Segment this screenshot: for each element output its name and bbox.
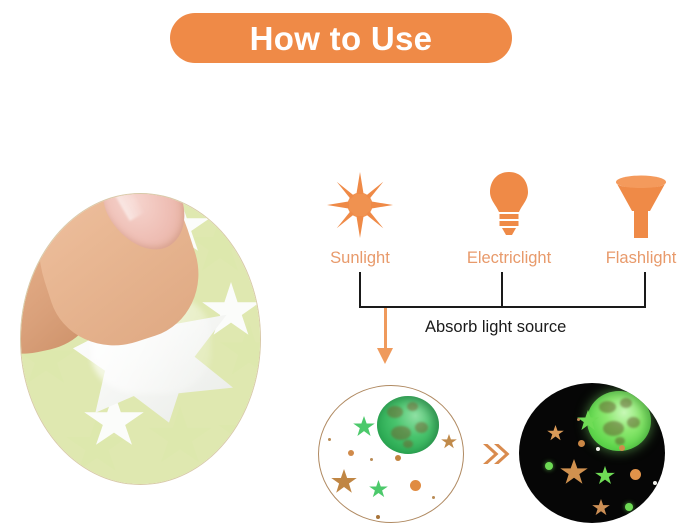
dark-result-circle xyxy=(519,383,665,523)
page-title: How to Use xyxy=(250,22,433,55)
dot-orange xyxy=(395,455,401,461)
absorb-arrow-stem xyxy=(384,308,387,352)
dot-tiny xyxy=(376,515,380,519)
double-chevron-right-icon xyxy=(482,443,510,465)
sun-icon xyxy=(327,172,393,238)
glow-moon-day xyxy=(377,396,439,454)
bracket-vertical-middle xyxy=(501,272,503,308)
absorb-arrow-head xyxy=(377,348,393,364)
peeling-sticker-photo xyxy=(20,193,261,485)
dot-tiny xyxy=(432,496,435,499)
dot-orange xyxy=(630,469,641,480)
dot-tiny xyxy=(370,458,373,461)
star-green-small xyxy=(353,416,375,437)
star-tan-small xyxy=(592,499,610,516)
dot-green-glow xyxy=(625,503,633,511)
dot-orange xyxy=(578,440,585,447)
dot-orange xyxy=(619,445,625,451)
star-brown-small xyxy=(441,434,457,449)
star-green-small xyxy=(595,466,615,485)
dot-tiny xyxy=(577,418,580,421)
dot-tiny xyxy=(328,438,331,441)
page-title-pill: How to Use xyxy=(170,13,512,63)
bracket-horizontal xyxy=(359,306,646,308)
flashlight-icon xyxy=(608,172,674,238)
dot-orange xyxy=(410,480,421,491)
star-tan-large xyxy=(560,459,588,485)
light-source-label-flashlight: Flashlight xyxy=(587,249,679,268)
star-brown-large xyxy=(331,469,357,494)
dot-white-tiny xyxy=(653,481,657,485)
bracket-vertical-right xyxy=(644,272,646,308)
daylight-result-circle xyxy=(318,385,464,523)
dot-white-tiny xyxy=(596,447,600,451)
dot-green-glow xyxy=(545,462,553,470)
bracket-vertical-left xyxy=(359,272,361,308)
glow-moon-night xyxy=(587,391,651,451)
light-source-label-sunlight: Sunlight xyxy=(314,249,406,268)
star-tan-small xyxy=(547,425,564,441)
light-bulb-icon xyxy=(487,171,531,239)
dot-orange xyxy=(348,450,354,456)
star-green-small xyxy=(369,480,388,498)
absorb-light-source-caption: Absorb light source xyxy=(425,318,566,337)
how-to-use-infographic: How to Use xyxy=(0,0,679,525)
light-source-label-electriclight: Electriclight xyxy=(446,249,572,268)
